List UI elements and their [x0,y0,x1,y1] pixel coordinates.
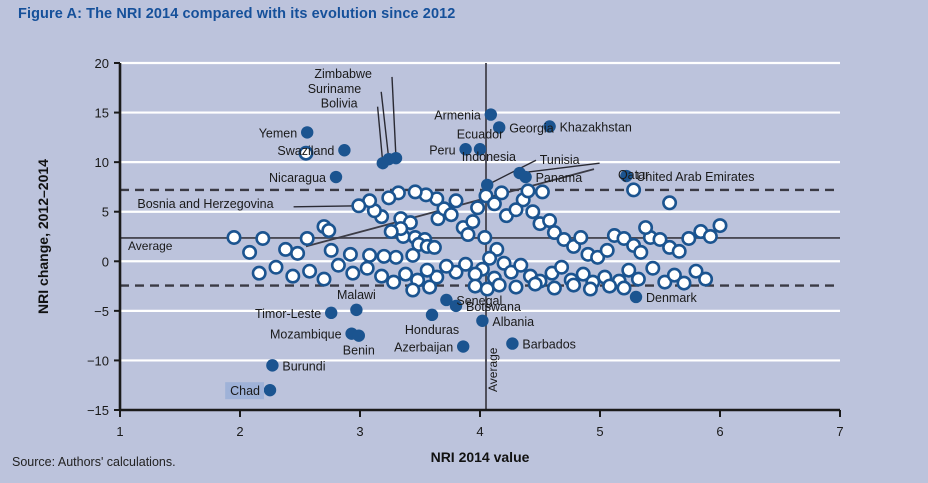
point-label-nicaragua: Nicaragua [269,171,326,185]
y-tick-label--10: −10 [87,353,109,368]
point-label-georgia: Georgia [509,121,554,135]
y-tick-label-0: 0 [102,254,109,269]
source-note: Source: Authors' calculations. [12,455,176,469]
point-label-bosnia-and-herzegovina: Bosnia and Herzegovina [137,197,273,211]
data-point[interactable] [301,232,313,244]
data-point[interactable] [375,270,387,282]
data-point-panama[interactable] [519,171,531,183]
data-point[interactable] [603,280,615,292]
x-tick-label-3: 3 [356,424,363,439]
data-point[interactable] [601,244,613,256]
x-axis-title: NRI 2014 value [431,449,530,465]
data-point-indonesia[interactable] [481,179,493,191]
point-label-panama: Panama [536,171,583,185]
data-point[interactable] [479,231,491,243]
data-point[interactable] [257,232,269,244]
data-point[interactable] [639,221,651,233]
data-point[interactable] [423,281,435,293]
data-point-yemen[interactable] [301,126,313,138]
data-point[interactable] [407,284,419,296]
data-point[interactable] [421,264,433,276]
data-point[interactable] [510,281,522,293]
data-point-timor-leste[interactable] [325,307,337,319]
data-point[interactable] [390,251,402,263]
point-label-tunisia: Tunisia [540,153,580,167]
data-point[interactable] [407,249,419,261]
data-point[interactable] [527,206,539,218]
point-label-honduras: Honduras [405,323,459,337]
scatter-plot: AverageAverage−15−10−5051015201234567NRI… [0,0,928,483]
point-label-albania: Albania [492,315,534,329]
data-point[interactable] [567,279,579,291]
data-point[interactable] [673,245,685,257]
y-tick-label--15: −15 [87,403,109,418]
point-label-botswana: Botswana [466,300,521,314]
data-point[interactable] [399,268,411,280]
data-point[interactable] [385,225,397,237]
point-label-indonesia: Indonesia [462,150,516,164]
point-label-khazakhstan: Khazakhstan [560,120,632,134]
data-point[interactable] [383,192,395,204]
point-label-timor-leste: Timor-Leste [255,307,321,321]
data-point-honduras[interactable] [426,309,438,321]
point-label-burundi: Burundi [282,359,325,373]
y-tick-label-15: 15 [95,106,109,121]
data-point[interactable] [699,273,711,285]
data-point-barbados[interactable] [506,337,518,349]
data-point[interactable] [332,259,344,271]
y-tick-label-10: 10 [95,155,109,170]
data-point[interactable] [347,267,359,279]
data-point-burundi[interactable] [266,359,278,371]
x-tick-label-7: 7 [836,424,843,439]
data-point[interactable] [253,267,265,279]
data-point[interactable] [270,261,282,273]
data-point[interactable] [450,195,462,207]
data-point[interactable] [325,244,337,256]
data-point[interactable] [409,186,421,198]
data-point[interactable] [663,197,675,209]
data-point[interactable] [387,276,399,288]
data-point-qatar[interactable] [627,184,639,196]
point-label-peru: Peru [429,143,455,157]
point-label-malawi: Malawi [337,288,376,302]
data-point-denmark[interactable] [630,291,642,303]
data-point[interactable] [462,228,474,240]
point-label-denmark: Denmark [646,291,697,305]
data-point[interactable] [522,185,534,197]
page-title: Figure A: The NRI 2014 compared with its… [18,6,455,22]
data-point[interactable] [471,202,483,214]
data-point[interactable] [228,231,240,243]
data-point[interactable] [287,270,299,282]
data-point[interactable] [543,214,555,226]
point-label-benin: Benin [343,344,375,358]
data-point[interactable] [495,187,507,199]
y-tick-label--5: −5 [94,304,109,319]
data-point[interactable] [584,283,596,295]
point-label-chad: Chad [230,384,260,398]
data-point[interactable] [635,246,647,258]
data-point[interactable] [440,260,452,272]
data-point[interactable] [632,273,644,285]
point-label-azerbaijan: Azerbaijan [394,341,453,355]
y-tick-label-5: 5 [102,205,109,220]
data-point-bosnia-and-herzegovina[interactable] [353,200,365,212]
data-point[interactable] [291,247,303,259]
data-point-albania[interactable] [476,315,488,327]
point-label-yemen: Yemen [259,126,298,140]
data-point[interactable] [445,208,457,220]
data-point-bolivia[interactable] [377,157,389,169]
point-label-united-arab-emirates: United Arab Emirates [636,170,754,184]
average-label-vertical: Average [486,347,500,392]
data-point[interactable] [704,230,716,242]
data-point[interactable] [678,277,690,289]
data-point[interactable] [467,215,479,227]
data-point-malawi[interactable] [350,304,362,316]
data-point[interactable] [279,243,291,255]
data-point[interactable] [469,280,481,292]
data-point[interactable] [618,282,630,294]
data-point[interactable] [536,186,548,198]
data-point-nicaragua[interactable] [330,171,342,183]
data-point[interactable] [548,282,560,294]
point-label-ecuador: Ecuador [457,127,504,141]
point-label-qatar: Qatar [618,168,649,182]
point-label-mozambique: Mozambique [270,328,342,342]
data-point[interactable] [493,279,505,291]
x-tick-label-1: 1 [116,424,123,439]
data-point[interactable] [529,278,541,290]
data-point[interactable] [361,262,373,274]
x-tick-label-5: 5 [596,424,603,439]
point-label-swaziland: Swaziland [277,144,334,158]
data-point-swaziland[interactable] [338,144,350,156]
x-tick-label-2: 2 [236,424,243,439]
y-tick-label-20: 20 [95,56,109,71]
data-point[interactable] [469,268,481,280]
point-label-suriname: Suriname [308,82,362,96]
data-point[interactable] [428,241,440,253]
data-point-benin[interactable] [353,329,365,341]
average-label-horizontal: Average [128,239,173,253]
data-point[interactable] [555,261,567,273]
x-tick-label-4: 4 [476,424,483,439]
point-label-barbados: Barbados [522,338,576,352]
figure-container: Figure A: The NRI 2014 compared with its… [0,0,928,483]
data-point[interactable] [363,249,375,261]
y-axis-title: NRI change, 2012–2014 [35,159,51,314]
data-point[interactable] [243,246,255,258]
data-point-azerbaijan[interactable] [457,340,469,352]
data-point[interactable] [303,265,315,277]
data-point[interactable] [714,219,726,231]
data-point[interactable] [515,259,527,271]
data-point[interactable] [323,224,335,236]
data-point[interactable] [683,232,695,244]
point-label-bolivia: Bolivia [321,97,358,111]
data-point[interactable] [378,250,390,262]
data-point[interactable] [318,273,330,285]
x-tick-label-6: 6 [716,424,723,439]
data-point[interactable] [344,248,356,260]
point-label-armenia: Armenia [434,109,481,123]
data-point-armenia[interactable] [485,108,497,120]
data-point[interactable] [647,262,659,274]
point-label-zimbabwe: Zimbabwe [314,67,372,81]
data-point-chad[interactable] [264,384,276,396]
data-point[interactable] [575,231,587,243]
